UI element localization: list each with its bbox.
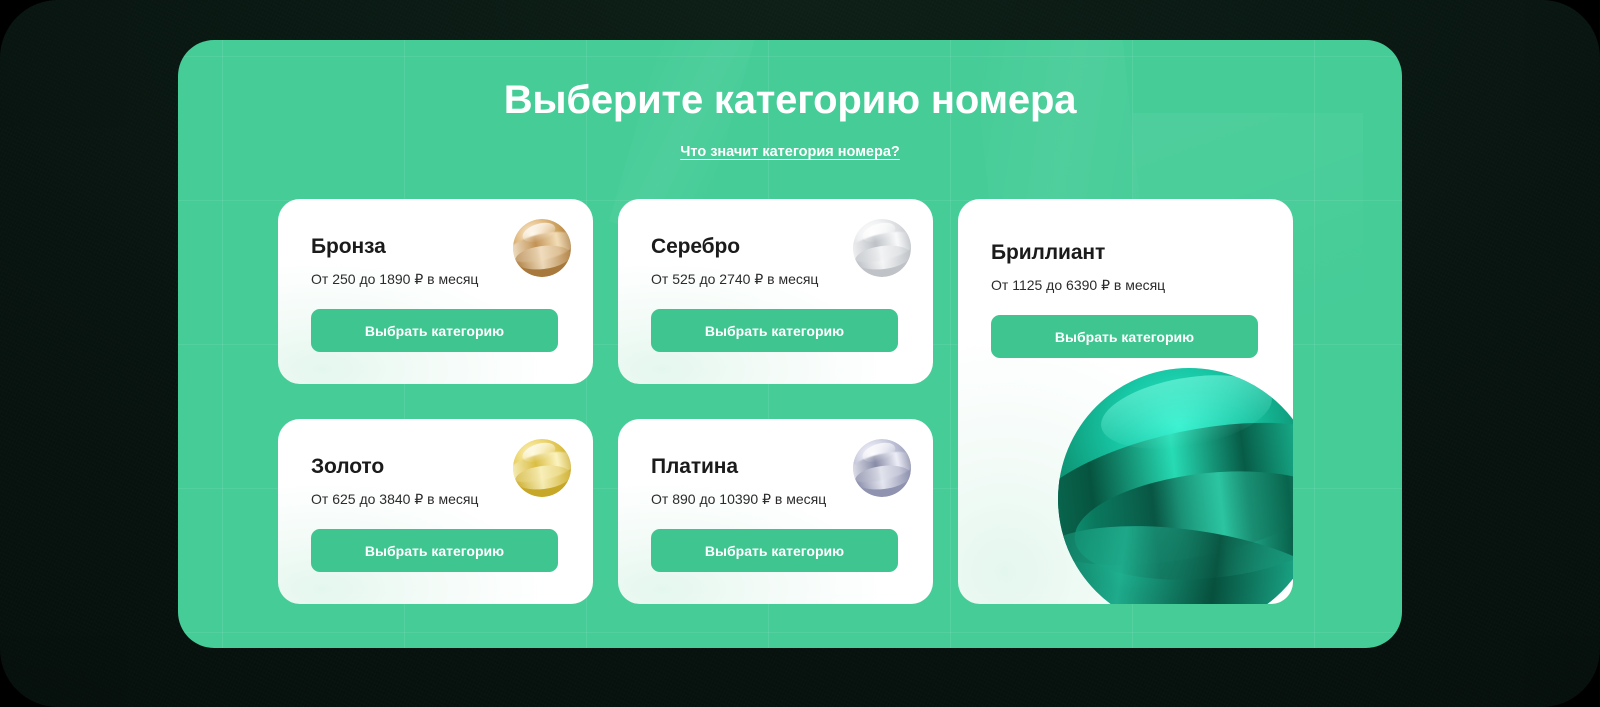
bronze-sphere-icon	[513, 219, 571, 277]
card-title: Бронза	[311, 235, 386, 259]
card-title: Бриллиант	[991, 241, 1105, 265]
platinum-sphere-icon	[853, 439, 911, 497]
select-category-button[interactable]: Выбрать категорию	[311, 309, 558, 352]
card-price: От 1125 до 6390 ₽ в месяц	[991, 277, 1165, 294]
silver-sphere-icon	[853, 219, 911, 277]
card-price: От 890 до 10390 ₽ в месяц	[651, 491, 826, 508]
select-category-button[interactable]: Выбрать категорию	[651, 309, 898, 352]
category-card-gold[interactable]: Золото От 625 до 3840 ₽ в месяц Выбрать …	[278, 419, 593, 604]
card-price: От 250 до 1890 ₽ в месяц	[311, 271, 478, 288]
category-card-diamond[interactable]: Бриллиант От 1125 до 6390 ₽ в месяц Выбр…	[958, 199, 1293, 604]
gold-sphere-icon	[513, 439, 571, 497]
select-category-button[interactable]: Выбрать категорию	[651, 529, 898, 572]
what-is-category-link[interactable]: Что значит категория номера?	[680, 144, 900, 160]
category-panel: Выберите категорию номера Что значит кат…	[178, 40, 1402, 648]
card-title: Серебро	[651, 235, 740, 259]
select-category-button[interactable]: Выбрать категорию	[991, 315, 1258, 358]
app-background: Выберите категорию номера Что значит кат…	[0, 0, 1600, 707]
category-card-bronze[interactable]: Бронза От 250 до 1890 ₽ в месяц Выбрать …	[278, 199, 593, 384]
diamond-sphere-icon	[1058, 368, 1293, 604]
card-price: От 525 до 2740 ₽ в месяц	[651, 271, 818, 288]
page-title: Выберите категорию номера	[178, 78, 1402, 123]
category-card-grid: Бронза От 250 до 1890 ₽ в месяц Выбрать …	[278, 199, 1293, 604]
category-card-silver[interactable]: Серебро От 525 до 2740 ₽ в месяц Выбрать…	[618, 199, 933, 384]
info-link-wrap: Что значит категория номера?	[178, 143, 1402, 161]
card-price: От 625 до 3840 ₽ в месяц	[311, 491, 478, 508]
select-category-button[interactable]: Выбрать категорию	[311, 529, 558, 572]
category-card-platinum[interactable]: Платина От 890 до 10390 ₽ в месяц Выбрат…	[618, 419, 933, 604]
card-title: Золото	[311, 455, 384, 479]
card-title: Платина	[651, 455, 738, 479]
